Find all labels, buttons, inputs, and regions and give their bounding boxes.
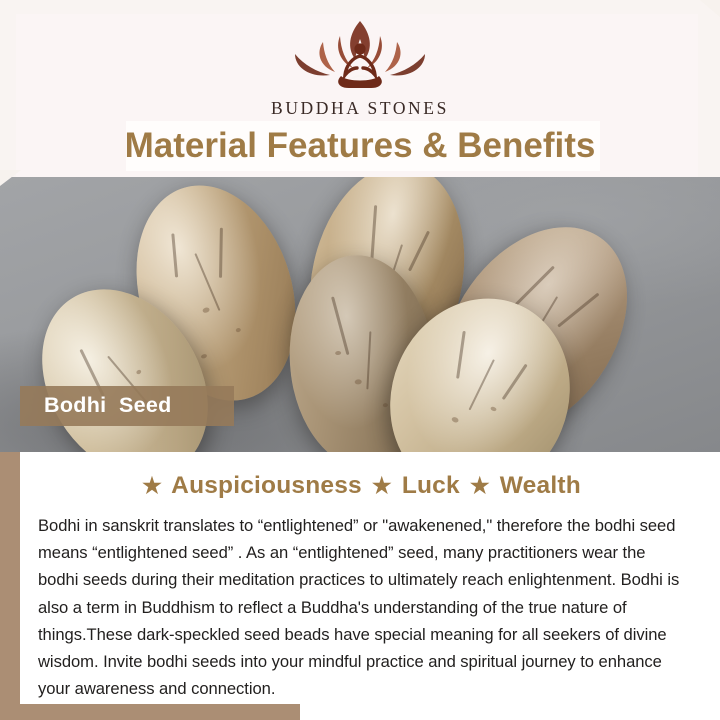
product-feature-banner: BUDDHA STONES Material Features & Benefi…: [0, 0, 720, 720]
description-panel: ★ Auspiciousness ★ Luck ★ Wealth Bodhi i…: [20, 452, 700, 704]
star-icon: ★: [139, 473, 165, 498]
frame-corner-notch-left: [0, 170, 21, 186]
benefit-label-wealth: Wealth: [500, 472, 581, 499]
frame-corner-notch-right: [700, 0, 720, 17]
description-text: Bodhi in sanskrit translates to “entligh…: [38, 512, 684, 702]
benefit-label-luck: Luck: [402, 472, 460, 499]
brand-name: BUDDHA STONES: [271, 98, 449, 119]
page-title: Material Features & Benefits: [0, 122, 720, 170]
frame-accent-bottom-left: [0, 704, 300, 720]
benefit-label-auspiciousness: Auspiciousness: [171, 472, 362, 499]
lotus-meditation-icon: [285, 18, 435, 92]
photo-caption-tag: Bodhi Seed: [20, 386, 234, 426]
brand-logo: BUDDHA STONES: [0, 18, 720, 119]
bodhi-seed-photo: Bodhi Seed: [0, 177, 720, 452]
star-icon: ★: [467, 473, 493, 498]
banner-header: BUDDHA STONES Material Features & Benefi…: [0, 0, 720, 178]
benefits-headline: ★ Auspiciousness ★ Luck ★ Wealth: [20, 472, 700, 500]
star-icon: ★: [369, 473, 395, 498]
